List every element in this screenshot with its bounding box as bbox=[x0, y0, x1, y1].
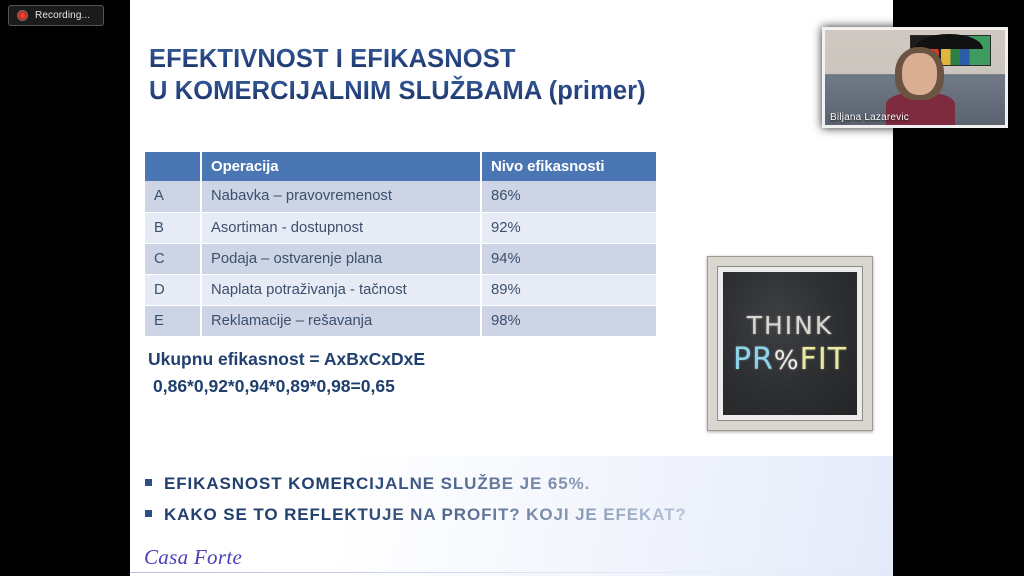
square-bullet-icon bbox=[145, 479, 152, 486]
table-row: E Reklamacije – rešavanja 98% bbox=[145, 305, 656, 336]
table-header-row: Operacija Nivo efikasnosti bbox=[145, 152, 656, 181]
column-header-level: Nivo efikasnosti bbox=[481, 152, 656, 181]
column-header-operation: Operacija bbox=[201, 152, 481, 181]
cell-level: 98% bbox=[481, 305, 656, 336]
chalk-text-profit: PR % FIT bbox=[733, 342, 847, 377]
bullet-list: EFIKASNOST KOMERCIJALNE SLUŽBE JE 65%. K… bbox=[145, 474, 845, 536]
person-face bbox=[902, 53, 936, 95]
meeting-screen-share-stage: Recording... EFEKTIVNOST I EFIKASNOST U … bbox=[0, 0, 1024, 576]
cell-level: 86% bbox=[481, 181, 656, 212]
footer-divider bbox=[130, 572, 893, 573]
cell-operation: Reklamacije – rešavanja bbox=[201, 305, 481, 336]
participant-video-tile[interactable]: Biljana Lazarevic bbox=[822, 27, 1008, 128]
think-profit-picture: THINK PR % FIT bbox=[707, 256, 873, 431]
bullet-text: KAKO SE TO REFLEKTUJE NA PROFIT? KOJI JE… bbox=[164, 505, 687, 525]
cell-level: 94% bbox=[481, 243, 656, 274]
chalkboard: THINK PR % FIT bbox=[723, 272, 857, 415]
bullet-item: EFIKASNOST KOMERCIJALNE SLUŽBE JE 65%. bbox=[145, 474, 845, 505]
cell-key: A bbox=[145, 181, 201, 212]
table-body: A Nabavka – pravovremenost 86% B Asortim… bbox=[145, 181, 656, 336]
formula-line-2: 0,86*0,92*0,94*0,89*0,98=0,65 bbox=[148, 373, 425, 400]
cell-operation: Naplata potraživanja - tačnost bbox=[201, 274, 481, 305]
slide-title-line-2: U KOMERCIJALNIM SLUŽBAMA (primer) bbox=[149, 75, 849, 107]
recording-indicator[interactable]: Recording... bbox=[8, 5, 104, 26]
formula-line-1: Ukupnu efikasnost = AxBxCxDxE bbox=[148, 346, 425, 373]
footer-brand-logo: Casa Forte bbox=[144, 545, 242, 570]
efficiency-table: Operacija Nivo efikasnosti A Nabavka – p… bbox=[145, 152, 656, 337]
cell-level: 89% bbox=[481, 274, 656, 305]
slide-title: EFEKTIVNOST I EFIKASNOST U KOMERCIJALNIM… bbox=[149, 43, 849, 107]
chalk-profit-percent: % bbox=[774, 346, 800, 376]
table-row: A Nabavka – pravovremenost 86% bbox=[145, 181, 656, 212]
cell-key: C bbox=[145, 243, 201, 274]
table-row: B Asortiman - dostupnost 92% bbox=[145, 212, 656, 243]
bullet-text: EFIKASNOST KOMERCIJALNE SLUŽBE JE 65%. bbox=[164, 474, 590, 494]
cell-operation: Asortiman - dostupnost bbox=[201, 212, 481, 243]
participant-name-label: Biljana Lazarevic bbox=[830, 112, 909, 123]
table-row: D Naplata potraživanja - tačnost 89% bbox=[145, 274, 656, 305]
square-bullet-icon bbox=[145, 510, 152, 517]
table-row: C Podaja – ostvarenje plana 94% bbox=[145, 243, 656, 274]
cell-key: D bbox=[145, 274, 201, 305]
record-dot-icon bbox=[17, 10, 28, 21]
video-feed bbox=[825, 30, 1005, 125]
chalk-profit-fit: FIT bbox=[800, 342, 847, 377]
formula-block: Ukupnu efikasnost = AxBxCxDxE 0,86*0,92*… bbox=[148, 346, 425, 400]
cell-key: E bbox=[145, 305, 201, 336]
table-header: Operacija Nivo efikasnosti bbox=[145, 152, 656, 181]
recording-label: Recording... bbox=[35, 10, 90, 21]
column-header-key bbox=[145, 152, 201, 181]
slide-title-line-1: EFEKTIVNOST I EFIKASNOST bbox=[149, 43, 849, 75]
presentation-slide: EFEKTIVNOST I EFIKASNOST U KOMERCIJALNIM… bbox=[130, 0, 893, 576]
picture-frame: THINK PR % FIT bbox=[717, 266, 863, 421]
cell-key: B bbox=[145, 212, 201, 243]
chalk-text-think: THINK bbox=[747, 311, 834, 340]
cell-level: 92% bbox=[481, 212, 656, 243]
bullet-item: KAKO SE TO REFLEKTUJE NA PROFIT? KOJI JE… bbox=[145, 505, 845, 536]
chalk-profit-pr: PR bbox=[733, 342, 774, 377]
cell-operation: Podaja – ostvarenje plana bbox=[201, 243, 481, 274]
cell-operation: Nabavka – pravovremenost bbox=[201, 181, 481, 212]
